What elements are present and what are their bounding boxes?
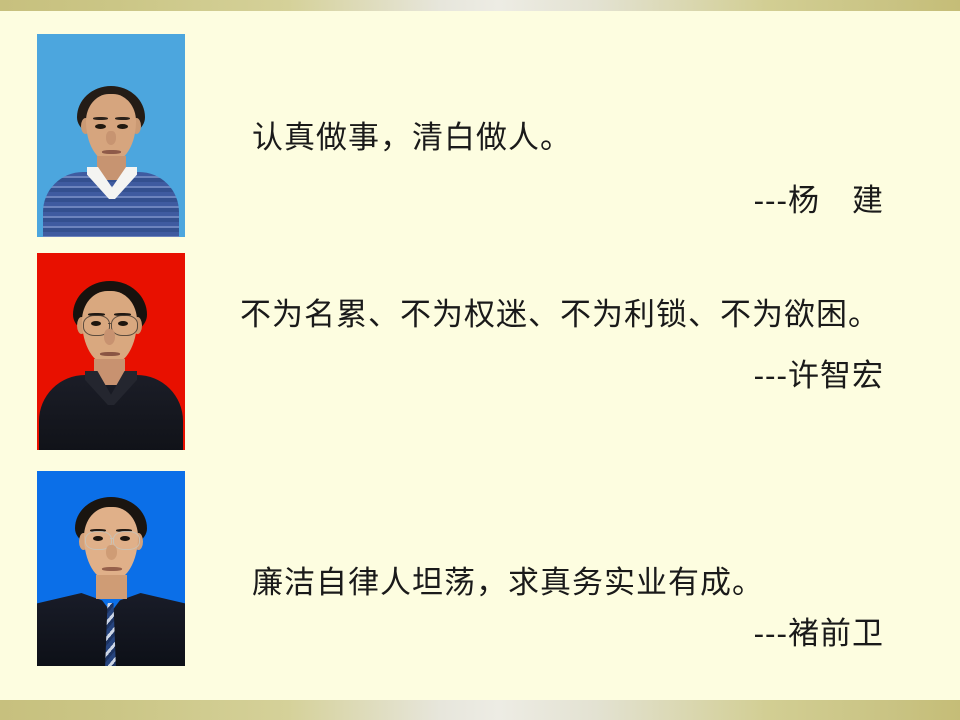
- quote-author-3: ---褚前卫: [180, 608, 884, 653]
- glasses-bridge: [108, 323, 111, 324]
- quote-text-2: 不为名累、不为权迷、不为利锁、不为欲困。: [168, 295, 910, 336]
- portrait-photo-1-image: [37, 34, 185, 237]
- dark-jacket: [39, 375, 183, 450]
- quote-text-3: 廉洁自律人坦荡，求真务实业有成。: [180, 563, 900, 604]
- eyebrow-right: [115, 117, 130, 120]
- mouth: [102, 150, 121, 154]
- portrait-photo-3-image: [37, 471, 185, 666]
- quote-author-2: ---许智宏: [180, 350, 884, 395]
- eye-right: [117, 124, 128, 129]
- neck: [96, 575, 127, 599]
- portrait-photo-2-image: [37, 253, 185, 450]
- presentation-slide: 认真做事，清白做人。 ---杨 建 不为名累、不为权迷、不为利锁、不为欲困。 -…: [0, 0, 960, 720]
- portrait-photo-2: [37, 253, 185, 450]
- top-gold-bar: [0, 0, 960, 11]
- portrait-photo-3: [37, 471, 185, 666]
- mouth: [102, 567, 122, 571]
- quote-block-2: 不为名累、不为权迷、不为利锁、不为欲困。 ---许智宏: [180, 295, 900, 395]
- nose: [106, 131, 116, 145]
- nose: [104, 329, 115, 345]
- eye-left: [95, 124, 106, 129]
- glasses-lens-right: [111, 315, 138, 336]
- bottom-gold-bar: [0, 700, 960, 720]
- quote-block-1: 认真做事，清白做人。 ---杨 建: [180, 118, 900, 220]
- eyebrow-left: [93, 117, 108, 120]
- quote-text-1: 认真做事，清白做人。: [180, 118, 900, 159]
- portrait-photo-1: [37, 34, 185, 237]
- glasses-lens-right: [113, 531, 140, 550]
- glasses-bridge: [110, 538, 113, 539]
- quote-block-3: 廉洁自律人坦荡，求真务实业有成。 ---褚前卫: [180, 563, 900, 653]
- mouth: [100, 352, 120, 356]
- striped-polo-shirt: [43, 172, 179, 237]
- quote-author-1: ---杨 建: [180, 175, 884, 220]
- nose: [106, 545, 117, 560]
